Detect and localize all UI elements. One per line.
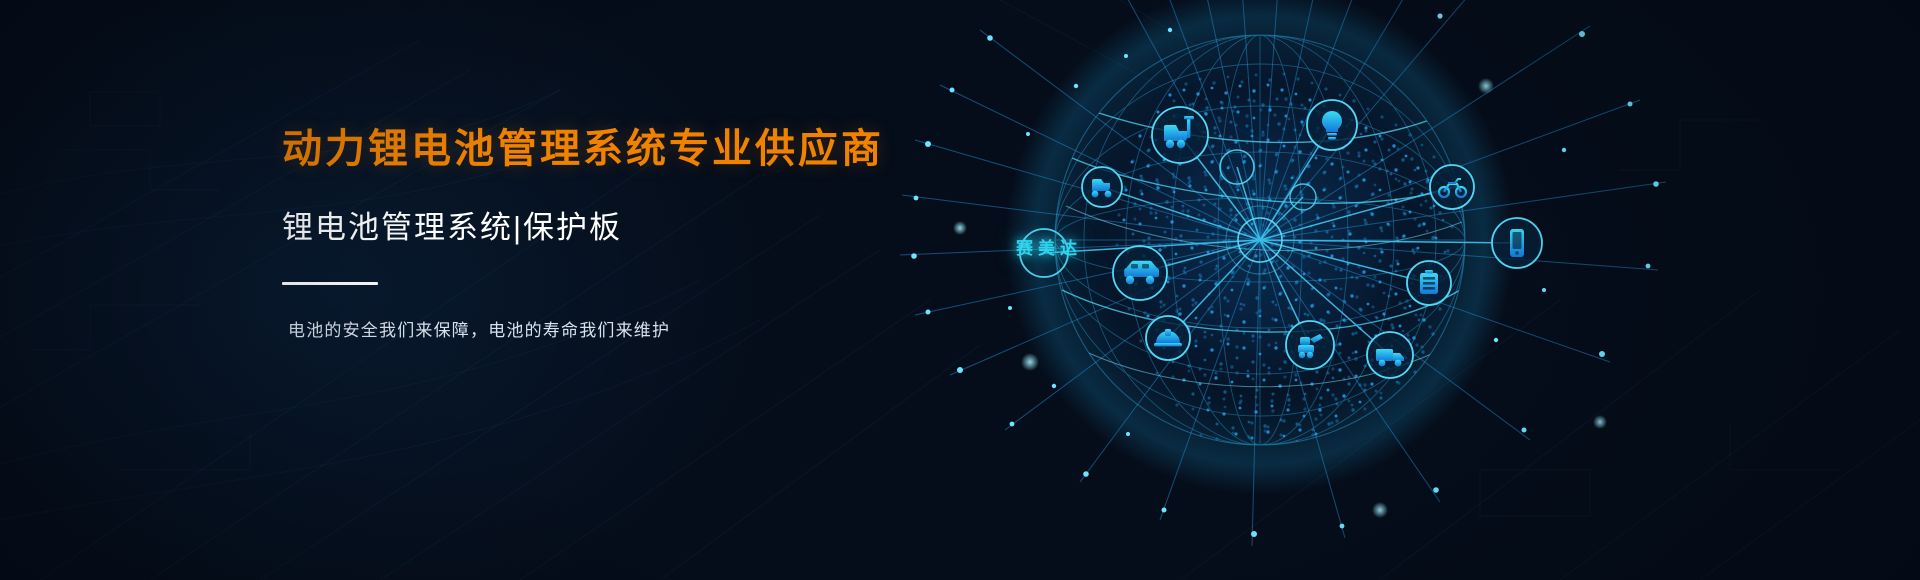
hero-banner: 动力锂电池管理系统专业供应商 锂电池管理系统|保护板 电池的安全我们来保障，电池… [0,0,1920,580]
background-vignette [0,0,1920,580]
